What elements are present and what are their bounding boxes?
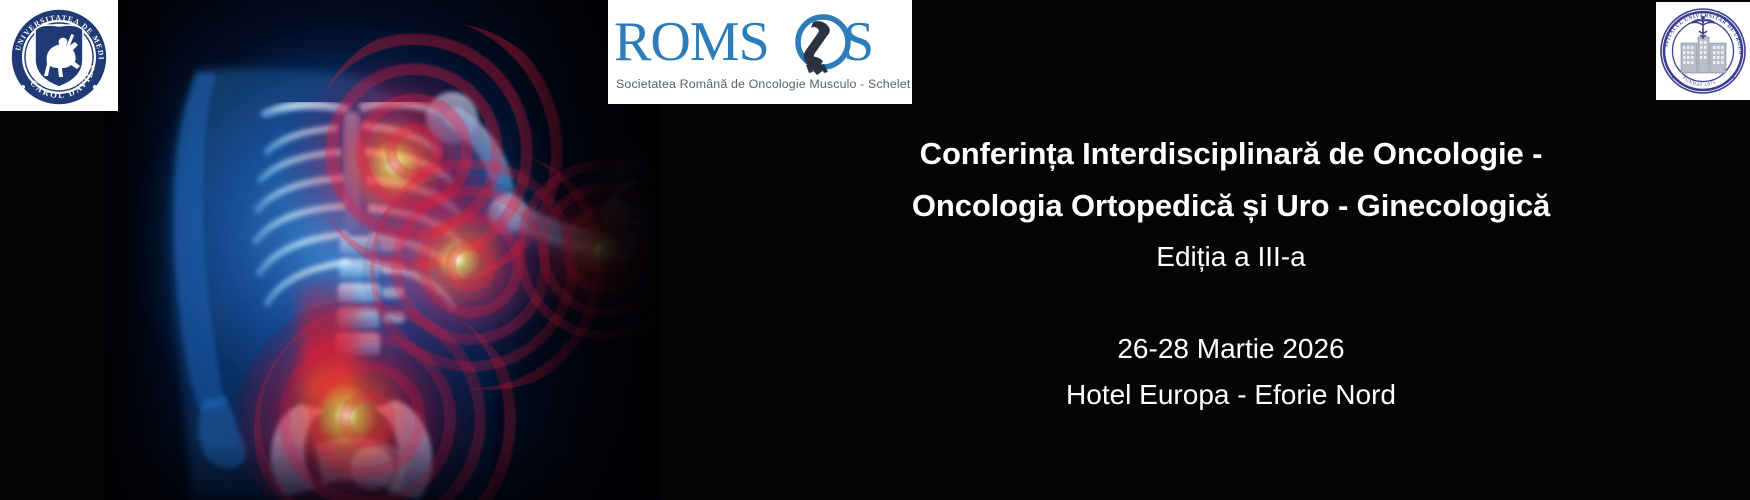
conference-banner: UNIVERSITATEA DE MEDICINĂ ȘI FARMACIE CA…: [0, 0, 1750, 500]
caduceus-icon: [1691, 19, 1715, 39]
image-bottom-fade: [104, 440, 660, 500]
spitalul-universitar-urgenta-bucuresti-logo: SPITALUL UNIVERSITAR DE URGENȚĂ BUCUREȘT…: [1656, 2, 1750, 100]
suub-seal-graphic: SPITALUL UNIVERSITAR DE URGENȚĂ BUCUREȘT…: [1657, 3, 1749, 99]
lumbar-spine-hotspot: [300, 272, 356, 402]
conference-dates: 26-28 Martie 2026: [812, 326, 1650, 372]
umf-carol-davila-logo: UNIVERSITATEA DE MEDICINĂ ȘI FARMACIE CA…: [0, 0, 118, 111]
romsos-subtitle: Societatea Română de Oncologie Musculo -…: [616, 77, 910, 91]
xray-skeleton-pain-points-image: [104, 0, 660, 500]
knee-joint-bone-icon: [798, 17, 848, 75]
conference-text-block: Conferința Interdisciplinară de Oncologi…: [812, 128, 1650, 418]
romsos-logo-graphic: ROMS S Societatea Română de Oncologie Mu…: [610, 2, 910, 102]
romsos-logo: ROMS S Societatea Română de Oncologie Mu…: [608, 0, 912, 104]
umf-seal-graphic: UNIVERSITATEA DE MEDICINĂ ȘI FARMACIE CA…: [3, 2, 115, 110]
romsos-wordmark-part1: ROMS: [614, 11, 769, 73]
conference-venue: Hotel Europa - Eforie Nord: [812, 372, 1650, 418]
conference-details: 26-28 Martie 2026 Hotel Europa - Eforie …: [812, 326, 1650, 418]
conference-title-line-2: Oncologia Ortopedică și Uro - Ginecologi…: [812, 180, 1650, 232]
conference-title-line-1: Conferința Interdisciplinară de Oncologi…: [812, 128, 1650, 180]
conference-edition: Ediția a III-a: [812, 234, 1650, 280]
